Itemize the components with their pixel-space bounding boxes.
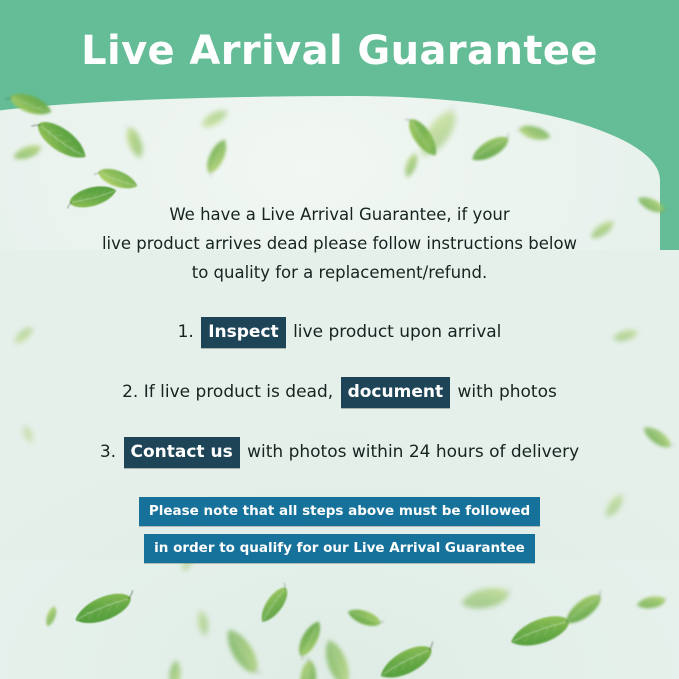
steps-list: 1. Inspect live product upon arrival 2. … xyxy=(0,317,679,468)
note-banner-1: Please note that all steps above must be… xyxy=(139,497,540,526)
intro-line-1: We have a Live Arrival Guarantee, if you… xyxy=(70,200,609,229)
step-1-number: 1. xyxy=(178,322,194,342)
step-item-2: 2. If live product is dead, document wit… xyxy=(0,377,679,408)
step-3-number: 3. xyxy=(100,442,116,462)
step-item-1: 1. Inspect live product upon arrival xyxy=(0,317,679,348)
step-2-highlight: document xyxy=(341,377,451,408)
intro-line-2: live product arrives dead please follow … xyxy=(70,229,609,258)
header-band: Live Arrival Guarantee xyxy=(0,0,679,110)
content-area: We have a Live Arrival Guarantee, if you… xyxy=(0,200,679,563)
page-title: Live Arrival Guarantee xyxy=(81,28,598,74)
step-1-highlight: Inspect xyxy=(201,317,285,348)
step-item-3: 3. Contact us with photos within 24 hour… xyxy=(0,437,679,468)
notes-banner-group: Please note that all steps above must be… xyxy=(0,497,679,563)
live-arrival-guarantee-poster: Live Arrival Guarantee We have a Live Ar… xyxy=(0,0,679,679)
step-3-after: with photos within 24 hours of delivery xyxy=(247,442,579,462)
step-2-before: If live product is dead, xyxy=(144,382,333,402)
note-banner-2: in order to qualify for our Live Arrival… xyxy=(144,534,535,563)
step-1-after: live product upon arrival xyxy=(293,322,501,342)
step-2-number: 2. xyxy=(122,382,138,402)
intro-line-3: to quality for a replacement/refund. xyxy=(70,258,609,287)
intro-paragraph: We have a Live Arrival Guarantee, if you… xyxy=(0,200,679,287)
step-3-highlight: Contact us xyxy=(124,437,240,468)
step-2-after: with photos xyxy=(458,382,557,402)
body-background-lower-fill xyxy=(0,560,679,679)
